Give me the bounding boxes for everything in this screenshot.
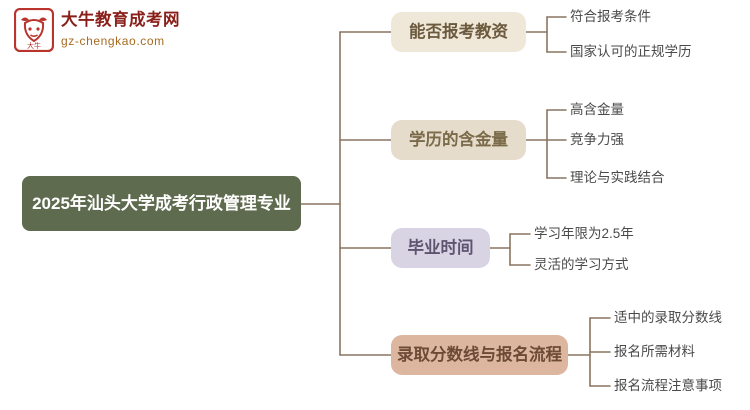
mindmap-branch-node-3: 毕业时间 [391, 228, 490, 268]
mindmap-leaf-1-1: 符合报考条件 [570, 9, 651, 25]
mindmap-leaf-2-1: 高含金量 [570, 102, 624, 118]
mindmap-leaf-2-3: 理论与实践结合 [570, 170, 665, 186]
mindmap-branch-node-4: 录取分数线与报名流程 [391, 335, 568, 375]
logo-subtitle: gz-chengkao.com [61, 33, 180, 49]
mindmap-leaf-3-1: 学习年限为2.5年 [534, 226, 634, 242]
mindmap-leaf-4-2: 报名所需材料 [614, 344, 695, 360]
mindmap-leaf-3-2: 灵活的学习方式 [534, 257, 629, 273]
mindmap-leaf-1-2: 国家认可的正规学历 [570, 44, 692, 60]
mindmap-branch-node-1: 能否报考教资 [391, 12, 526, 52]
mindmap-leaf-2-2: 竞争力强 [570, 132, 624, 148]
mindmap-root-node: 2025年汕头大学成考行政管理专业 [22, 176, 301, 231]
site-logo[interactable]: 大牛 大牛教育成考网 gz-chengkao.com [14, 8, 180, 52]
svg-text:大牛: 大牛 [27, 41, 41, 50]
mindmap-branch-node-2: 学历的含金量 [391, 120, 526, 160]
logo-title: 大牛教育成考网 [61, 10, 180, 30]
mindmap-leaf-4-3: 报名流程注意事项 [614, 378, 722, 394]
logo-text: 大牛教育成考网 gz-chengkao.com [61, 8, 180, 49]
mindmap-leaf-4-1: 适中的录取分数线 [614, 310, 722, 326]
bull-mascot-icon: 大牛 [14, 8, 54, 52]
